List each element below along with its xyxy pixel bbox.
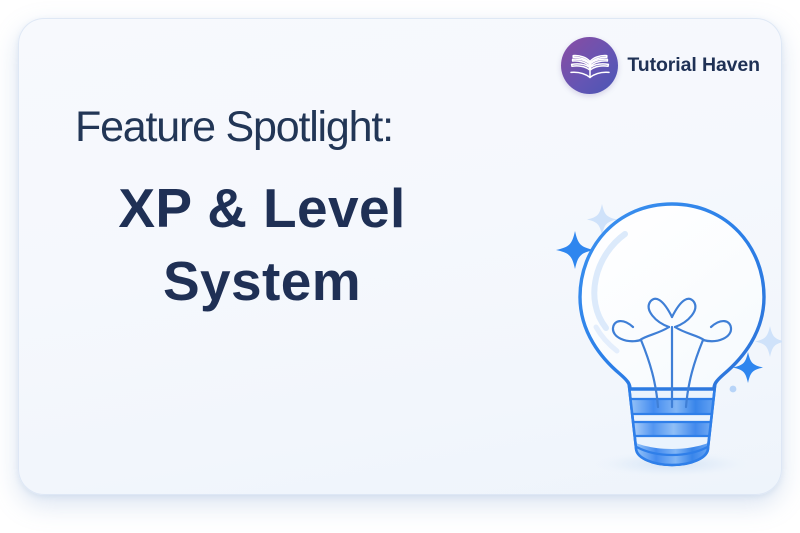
brand-lockup: Tutorial Haven — [561, 37, 760, 94]
sparkle-light-right — [755, 326, 782, 357]
open-book-icon — [561, 37, 618, 94]
page-title: XP & Level System — [75, 172, 455, 317]
sparkle-dot-right — [730, 386, 737, 393]
slide-card: Tutorial Haven Feature Spotlight: XP & L… — [18, 18, 782, 495]
headline-line-2: System — [75, 245, 449, 318]
headline-block: Feature Spotlight: XP & Level System — [75, 104, 455, 318]
lightbulb-illustration — [538, 186, 782, 486]
headline-line-1: XP & Level — [75, 172, 449, 245]
brand-name: Tutorial Haven — [627, 54, 760, 77]
eyebrow-text: Feature Spotlight: — [75, 104, 455, 150]
